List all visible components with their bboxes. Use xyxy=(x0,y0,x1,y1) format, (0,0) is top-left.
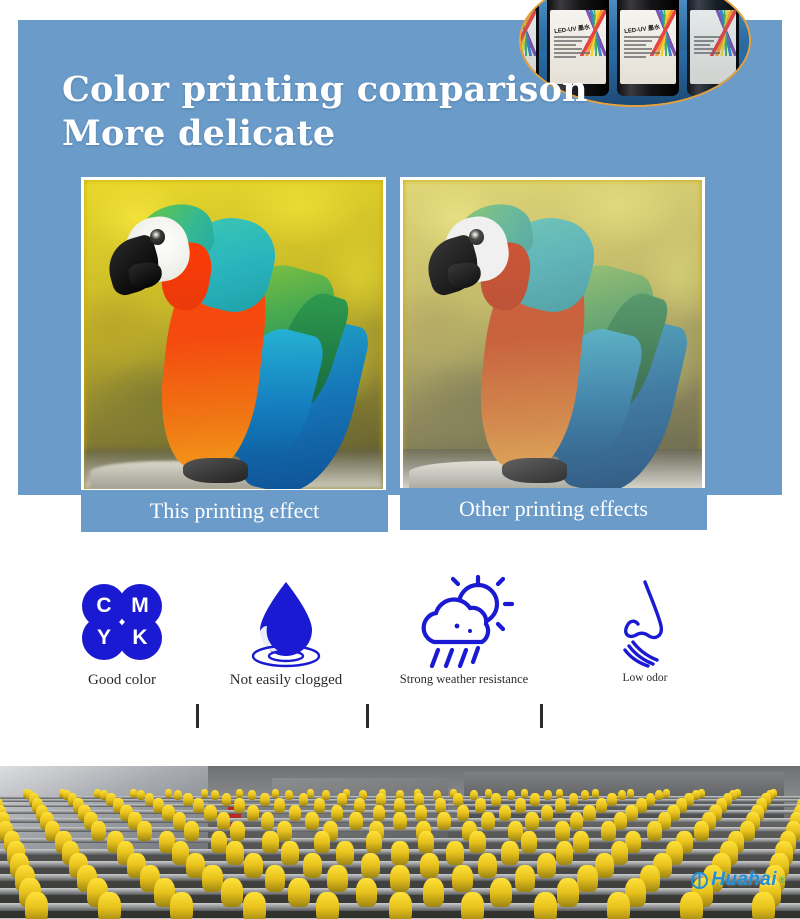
rainbow-fan-icon xyxy=(519,10,536,56)
caption-other-printing-effects: Other printing effects xyxy=(400,488,707,530)
bottle-label: LED-UV 墨水 xyxy=(620,10,676,84)
bottle-label xyxy=(690,10,736,84)
feature-divider xyxy=(196,704,199,728)
cmyk-k: K xyxy=(118,616,162,660)
feature-label: Good color xyxy=(52,672,192,689)
watermark-text: Huahai xyxy=(711,869,777,891)
feature-list: C M Y K Good color Not easily clogged xyxy=(0,572,800,742)
comparison-photo-left xyxy=(81,177,386,492)
label-text-lines xyxy=(694,36,720,56)
caption-this-printing-effect: This printing effect xyxy=(81,490,388,532)
feature-divider xyxy=(366,704,369,728)
feature-label: Low odor xyxy=(566,672,724,684)
nose-airflow-icon xyxy=(566,572,724,672)
feature-not-easily-clogged: Not easily clogged xyxy=(206,572,366,689)
page-title-line-2: More delicate xyxy=(62,112,582,156)
feature-low-odor: Low odor xyxy=(566,572,724,684)
parrot-photo-washed xyxy=(403,180,702,489)
feature-label: Strong weather resistance xyxy=(378,672,550,687)
parrot-eye xyxy=(469,229,484,244)
product-detail-page: Color printing comparison More delicate … xyxy=(0,0,800,919)
parrot-feet xyxy=(502,458,568,483)
watermark-logo: Huahai ® xyxy=(691,869,786,891)
page-title-line-1: Color printing comparison xyxy=(62,68,582,112)
parrot-eye xyxy=(150,229,165,244)
parrot-photo-vivid xyxy=(84,180,383,489)
ink-bottle xyxy=(687,0,739,96)
cmyk-icon: C M Y K xyxy=(52,572,192,672)
feature-label: Not easily clogged xyxy=(206,672,366,689)
conveyor-rollers xyxy=(0,766,800,919)
sun-cloud-rain-icon xyxy=(378,572,550,672)
registered-mark: ® xyxy=(779,875,786,885)
water-drop-icon xyxy=(206,572,366,672)
feature-divider xyxy=(540,704,543,728)
macaw-parrot xyxy=(403,180,702,489)
feature-good-color: C M Y K Good color xyxy=(52,572,192,689)
parrot-feet xyxy=(183,458,249,483)
comparison-photo-right xyxy=(400,177,705,492)
conveyor-roller-wheels xyxy=(0,892,800,919)
ink-bottle: LED-UV 墨水 xyxy=(617,0,679,96)
factory-photo: Huahai ® xyxy=(0,766,800,919)
feature-weather-resistance: Strong weather resistance xyxy=(378,572,550,687)
page-title: Color printing comparison More delicate xyxy=(62,68,582,156)
globe-icon xyxy=(691,872,708,889)
label-text-lines xyxy=(554,36,590,60)
label-text-lines xyxy=(624,36,660,60)
macaw-parrot xyxy=(84,180,383,489)
